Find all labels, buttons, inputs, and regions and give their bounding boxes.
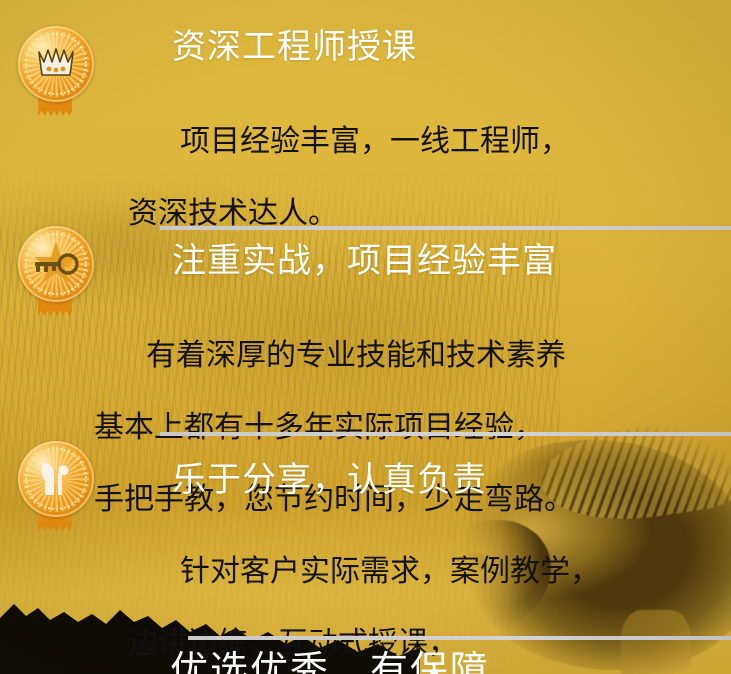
key-icon <box>32 252 80 276</box>
feature-3-divider <box>160 432 731 436</box>
hand-icon <box>37 459 75 499</box>
feature-1-headline: 资深工程师授课 <box>172 30 417 64</box>
badge-crown <box>12 22 98 122</box>
crown-icon <box>36 48 76 80</box>
hand-medal-icon <box>18 441 94 517</box>
feature-1-body: 项目经验丰富，一线工程师， 资深技术达人。 <box>128 88 570 232</box>
bottom-headline: 优选优秀，有保障 <box>170 652 490 674</box>
promo-poster: 资深工程师授课 项目经验丰富，一线工程师， 资深技术达人。 <box>0 0 731 674</box>
feature-1-body-line-1: 项目经验丰富，一线工程师， <box>128 124 570 160</box>
feature-2-body-line-2: 基本上都有十多年实际项目经验， <box>94 411 544 444</box>
badge-key <box>12 222 98 322</box>
bottom-divider <box>188 636 731 640</box>
feature-2-divider <box>160 226 731 230</box>
crown-medal-icon <box>18 26 94 102</box>
feature-3-body: 针对客户实际需求，案例教学， 边讲边练，互动式授课， <box>128 518 600 662</box>
key-medal-icon <box>18 226 94 302</box>
feature-3-body-line-1: 针对客户实际需求，案例教学， <box>128 554 600 590</box>
feature-3-headline: 乐于分享，认真负责 <box>172 463 487 497</box>
feature-2-body-line-1: 有着深厚的专业技能和技术素养 <box>94 338 566 374</box>
feature-2-headline: 注重实战，项目经验丰富 <box>172 244 557 278</box>
features-list: 资深工程师授课 项目经验丰富，一线工程师， 资深技术达人。 <box>0 0 731 674</box>
badge-hand <box>12 437 98 537</box>
